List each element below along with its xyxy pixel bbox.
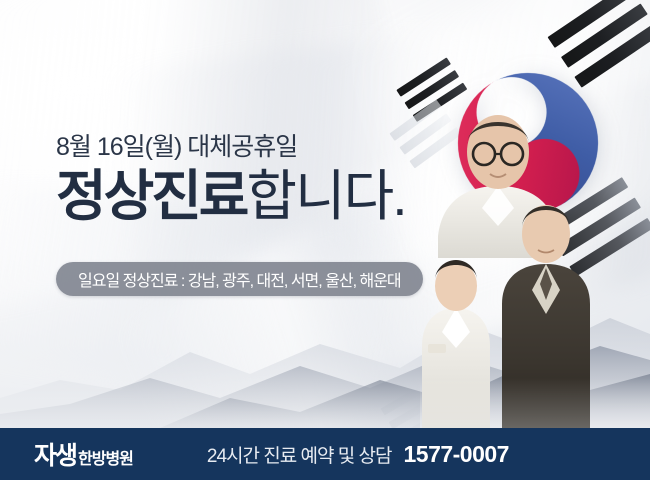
headline-strong: 정상진료 bbox=[56, 165, 246, 227]
promo-banner: 8월 16일(월) 대체공휴일 정상진료합니다. 일요일 정상진료 : 강남, … bbox=[0, 0, 650, 480]
contact-block: 24시간 진료 예약 및 상담 1577-0007 bbox=[207, 441, 509, 468]
headline: 정상진료합니다. bbox=[56, 168, 526, 226]
logo-sub: 한방병원 bbox=[78, 445, 133, 469]
footer-bar: 자생 한방병원 24시간 진료 예약 및 상담 1577-0007 bbox=[0, 428, 650, 480]
headline-block: 8월 16일(월) 대체공휴일 정상진료합니다. bbox=[56, 132, 526, 226]
phone-number[interactable]: 1577-0007 bbox=[403, 441, 509, 468]
sunday-branches-pill: 일요일 정상진료 : 강남, 광주, 대전, 서면, 울산, 해운대 bbox=[56, 262, 423, 296]
date-line: 8월 16일(월) 대체공휴일 bbox=[56, 132, 526, 162]
contact-label: 24시간 진료 예약 및 상담 bbox=[207, 441, 392, 468]
headline-light: 합니다. bbox=[246, 165, 405, 227]
logo-mark: 자생 bbox=[34, 436, 76, 472]
hospital-logo[interactable]: 자생 한방병원 bbox=[34, 436, 133, 472]
